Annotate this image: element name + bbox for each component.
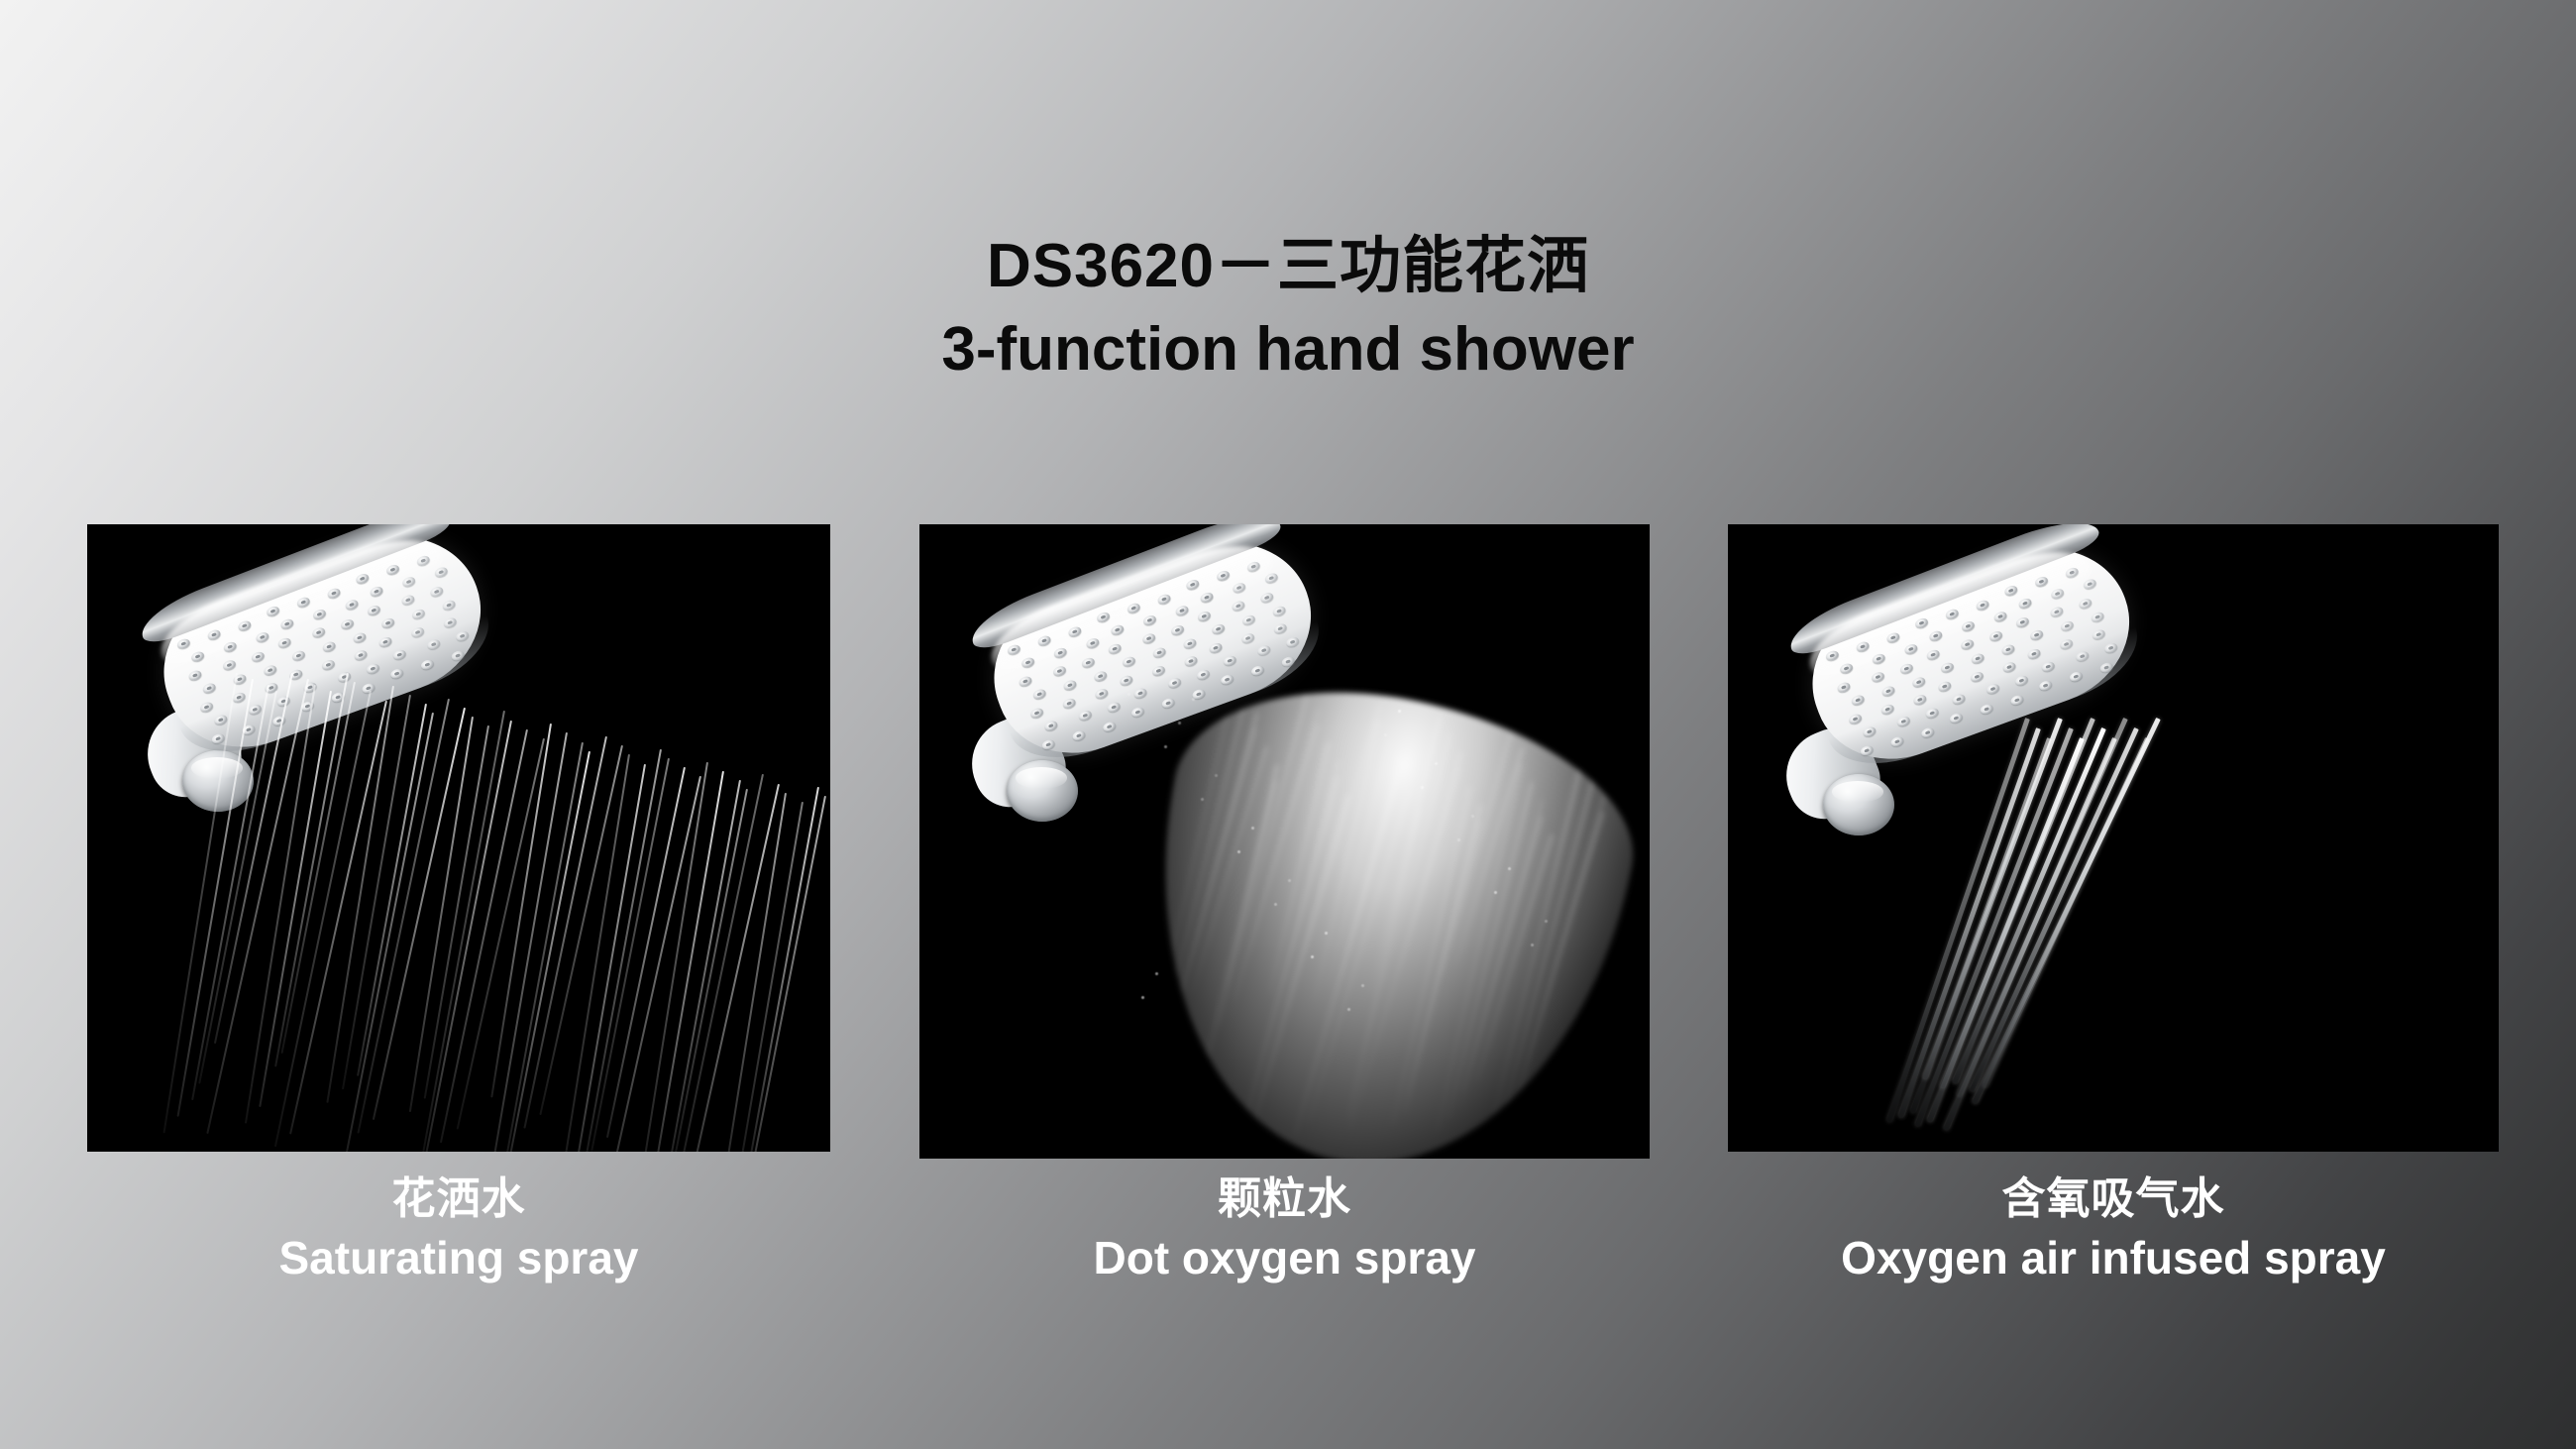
water-stream: [749, 787, 819, 1152]
mist-plume: [1109, 658, 1650, 1159]
nozzle: [352, 631, 367, 644]
water-droplet: [1347, 1008, 1350, 1011]
nozzle: [2075, 650, 2090, 663]
nozzle: [1081, 656, 1096, 669]
water-stream: [423, 725, 488, 1099]
nozzle: [1940, 661, 1955, 674]
nozzle: [1914, 616, 1929, 629]
title-chinese: DS3620－三功能花洒: [0, 236, 2576, 297]
nozzle: [1127, 602, 1141, 614]
water-stream: [667, 780, 741, 1152]
title-english: 3-function hand shower: [0, 319, 2576, 381]
water-stream: [585, 749, 663, 1152]
nozzle-grid: [972, 524, 1333, 776]
nozzle: [1925, 707, 1940, 720]
water-stream: [342, 695, 411, 1090]
nozzle: [1925, 648, 1940, 661]
water-droplet: [1508, 867, 1511, 870]
nozzle: [1899, 662, 1914, 675]
nozzle: [1911, 676, 1926, 689]
water-stream: [487, 732, 568, 1152]
nozzle: [1256, 644, 1271, 657]
water-stream: [408, 717, 473, 1112]
nozzle: [443, 616, 458, 629]
nozzle: [1949, 712, 1964, 724]
hand-shower-render-1: [87, 524, 830, 1152]
nozzle: [1945, 608, 1960, 620]
nozzle: [1062, 679, 1077, 692]
nozzle: [1851, 694, 1866, 707]
water-stream: [555, 754, 629, 1152]
nozzle: [1102, 721, 1117, 733]
nozzle: [1208, 641, 1223, 654]
water-jet: [1915, 727, 2074, 1127]
nozzle: [1992, 611, 2007, 623]
nozzle: [2090, 611, 2104, 623]
nozzle: [1151, 664, 1166, 677]
water-stream: [673, 789, 748, 1152]
nozzle: [2014, 674, 2029, 687]
product-image-panel-2[interactable]: [919, 524, 1650, 1159]
nozzle: [251, 650, 266, 663]
nozzle: [1183, 655, 1198, 668]
nozzle: [2026, 647, 2041, 660]
water-jet: [1940, 718, 2095, 1088]
water-stream: [343, 713, 434, 1152]
water-droplet: [1164, 745, 1167, 748]
nozzle: [1273, 622, 1288, 635]
nozzle: [300, 700, 315, 713]
water-jet: [1943, 737, 2116, 1131]
nozzle: [302, 681, 317, 694]
nozzle: [255, 630, 269, 643]
nozzle-grid: [142, 524, 502, 770]
nozzle: [1018, 675, 1032, 688]
nozzle: [1107, 642, 1122, 655]
nozzle: [1903, 642, 1918, 655]
water-stream: [327, 686, 395, 1103]
nozzle: [366, 662, 380, 675]
water-droplet: [1201, 798, 1204, 801]
nozzle: [1094, 687, 1109, 700]
nozzle: [1071, 729, 1086, 742]
nozzle: [266, 605, 280, 617]
nozzle: [2029, 628, 2044, 641]
nozzle: [340, 617, 355, 630]
nozzle: [1979, 703, 1993, 716]
nozzle: [1191, 688, 1206, 701]
nozzle: [1880, 685, 1895, 698]
nozzle: [296, 596, 311, 609]
nozzle: [1130, 706, 1145, 719]
nozzle: [288, 668, 303, 681]
nozzle: [1156, 593, 1171, 606]
nozzle: [1241, 613, 1256, 626]
nozzle: [1860, 744, 1875, 757]
nozzle: [1029, 707, 1044, 720]
nozzle: [2069, 670, 2084, 683]
nozzle: [2078, 598, 2093, 611]
nozzle: [1246, 560, 1261, 573]
water-droplet: [1531, 944, 1534, 947]
hand-shower-render-3: [1728, 524, 2499, 1152]
nozzle: [291, 649, 306, 662]
nozzle: [1216, 569, 1231, 582]
nozzle: [1078, 709, 1093, 722]
product-image-panel-1[interactable]: [87, 524, 830, 1152]
nozzle: [330, 691, 345, 704]
water-jet: [1927, 737, 2085, 1122]
water-jet: [1970, 727, 2139, 1092]
mode-selector-button: [1823, 774, 1894, 836]
water-stream: [539, 745, 623, 1115]
nozzle: [1872, 652, 1886, 665]
nozzle: [1271, 605, 1286, 617]
water-droplet: [1141, 996, 1144, 999]
nozzle: [1007, 643, 1021, 656]
product-image-panel-3[interactable]: [1728, 524, 2499, 1152]
nozzle: [1093, 670, 1108, 683]
nozzle: [2083, 578, 2097, 591]
nozzle: [2050, 588, 2065, 601]
water-droplet: [1274, 903, 1277, 906]
caption-chinese: 花洒水: [87, 1177, 830, 1221]
water-jet: [1956, 718, 2127, 1096]
nozzle: [1062, 697, 1077, 710]
nozzle: [1032, 688, 1047, 701]
nozzle: [223, 640, 238, 653]
water-stream: [735, 796, 826, 1152]
nozzle: [1951, 693, 1966, 706]
water-droplet: [1288, 879, 1291, 882]
nozzle: [1167, 677, 1182, 690]
water-droplet: [1545, 920, 1548, 923]
caption-chinese: 颗粒水: [919, 1177, 1650, 1221]
water-droplet: [1494, 891, 1497, 894]
nozzle: [211, 732, 226, 745]
nozzle: [1020, 656, 1035, 669]
nozzle: [1264, 572, 1279, 585]
nozzle: [1855, 640, 1870, 653]
nozzle: [2060, 619, 2075, 632]
poster-background: DS3620－三功能花洒 3-function hand shower: [0, 0, 2576, 1449]
nozzle: [2103, 641, 2118, 654]
nozzle: [222, 659, 237, 672]
caption-english: Oxygen air infused spray: [1728, 1235, 2499, 1281]
nozzle: [1182, 637, 1197, 650]
water-stream: [501, 741, 584, 1152]
shower-head-face: [972, 524, 1333, 776]
water-droplet: [1325, 932, 1328, 935]
nozzle: [380, 616, 395, 629]
hand-shower-render-2: [919, 524, 1650, 1159]
nozzle: [1232, 582, 1246, 595]
nozzle: [1960, 638, 1975, 651]
nozzle: [1825, 649, 1840, 662]
nozzle: [361, 682, 376, 695]
shower-handle: [87, 697, 94, 1095]
nozzle: [241, 724, 256, 736]
water-stream: [719, 793, 788, 1152]
nozzle: [1043, 720, 1058, 732]
nozzle: [429, 586, 444, 599]
nozzle: [2065, 566, 2080, 579]
caption-english: Dot oxygen spray: [919, 1235, 1650, 1281]
nozzle: [2034, 575, 2049, 588]
water-stream: [598, 776, 701, 1152]
water-stream: [637, 761, 708, 1152]
nozzle: [176, 637, 191, 650]
water-droplet: [1215, 774, 1218, 777]
nozzle: [455, 629, 470, 642]
nozzle: [206, 628, 221, 641]
nozzle: [1839, 662, 1854, 675]
nozzle: [2038, 679, 2053, 692]
nozzle: [1250, 664, 1265, 677]
nozzle: [1052, 665, 1067, 678]
nozzle: [2017, 597, 2032, 610]
nozzle: [1920, 726, 1935, 739]
water-stream: [734, 802, 804, 1152]
nozzle: [2009, 694, 2024, 707]
nozzle: [1220, 673, 1234, 686]
nozzle: [1937, 680, 1952, 693]
water-stream: [507, 751, 590, 1152]
nozzle: [232, 691, 247, 704]
nozzle: [377, 635, 392, 648]
nozzle: [1231, 600, 1245, 613]
nozzle: [1928, 629, 1943, 642]
nozzle: [1912, 693, 1927, 706]
nozzle: [2000, 643, 2015, 656]
nozzle: [321, 658, 336, 671]
nozzle: [2098, 661, 2113, 674]
nozzle: [385, 563, 400, 576]
water-jet: [1953, 727, 2106, 1083]
nozzle: [1151, 646, 1166, 659]
nozzle: [1970, 652, 1985, 665]
nozzle: [232, 673, 247, 686]
nozzle: [199, 701, 214, 714]
nozzle: [2049, 606, 2064, 618]
caption-panel-2: 颗粒水 Dot oxygen spray: [919, 1177, 1650, 1281]
nozzle: [401, 576, 416, 589]
water-stream: [357, 704, 427, 1076]
nozzle: [420, 658, 435, 671]
nozzle: [1880, 703, 1895, 716]
water-droplet: [1384, 733, 1387, 736]
nozzle: [321, 640, 336, 653]
nozzle: [237, 619, 252, 632]
nozzle: [1280, 655, 1295, 668]
nozzle: [389, 667, 404, 680]
water-stream: [245, 685, 316, 1124]
nozzle: [2001, 661, 2016, 674]
water-droplet: [1155, 972, 1158, 975]
shower-head-face: [142, 524, 502, 770]
product-panel-row: [0, 524, 2576, 1164]
water-droplet: [1398, 710, 1401, 713]
nozzle: [1122, 655, 1136, 668]
water-jet: [1886, 718, 2030, 1122]
nozzle: [1223, 654, 1237, 667]
water-stream: [280, 682, 356, 1054]
nozzle: [1132, 687, 1147, 700]
nozzle: [312, 608, 327, 620]
water-stream: [358, 698, 451, 1133]
water-jet: [1898, 727, 2041, 1118]
nozzle: [1871, 671, 1885, 684]
water-droplet: [1471, 815, 1474, 818]
nozzle: [1211, 622, 1226, 635]
page-title: DS3620－三功能花洒 3-function hand shower: [0, 236, 2576, 381]
caption-panel-1: 花洒水 Saturating spray: [87, 1177, 830, 1281]
nozzle: [1285, 635, 1300, 648]
nozzle: [1053, 646, 1068, 659]
water-stream: [419, 711, 505, 1152]
water-stream: [260, 691, 333, 1107]
water-stream: [682, 783, 780, 1152]
nozzle: [1041, 738, 1056, 751]
nozzle: [1199, 591, 1214, 604]
nozzle: [279, 617, 294, 630]
water-droplet: [1178, 722, 1181, 724]
nozzle: [1896, 715, 1911, 727]
nozzle: [355, 572, 370, 585]
water-jet: [1972, 718, 2160, 1104]
nozzle: [2041, 660, 2056, 673]
nozzle: [1036, 634, 1051, 647]
water-droplet: [1251, 827, 1254, 830]
nozzle: [1096, 611, 1111, 623]
nozzle: [392, 648, 407, 661]
water-stream: [590, 758, 670, 1152]
nozzle: [1988, 629, 2003, 642]
nozzle: [264, 681, 278, 694]
nozzle: [1174, 605, 1189, 617]
nozzle: [344, 599, 359, 612]
water-droplet: [1421, 786, 1424, 789]
water-stream: [289, 700, 387, 1134]
nozzle: [441, 599, 456, 612]
nozzle: [1110, 623, 1125, 636]
nozzle: [1142, 613, 1157, 626]
nozzle: [1141, 632, 1156, 645]
nozzle: [1986, 683, 2000, 696]
water-jet: [1983, 737, 2150, 1088]
nozzle: [1862, 725, 1877, 738]
nozzle: [369, 585, 383, 598]
water-stream: [440, 729, 528, 1143]
caption-english: Saturating spray: [87, 1235, 830, 1281]
water-droplet: [1311, 955, 1314, 958]
shower-handle: [1728, 721, 1729, 1119]
water-stream: [652, 771, 725, 1152]
nozzle: [1848, 713, 1863, 725]
nozzle: [263, 664, 277, 677]
nozzle: [416, 554, 431, 567]
water-stream: [606, 767, 686, 1138]
water-droplet: [1237, 850, 1240, 853]
water-droplet: [1361, 984, 1364, 987]
nozzle: [1889, 735, 1904, 748]
nozzle: [1170, 623, 1185, 636]
nozzle: [1196, 668, 1211, 681]
nozzle: [187, 669, 202, 682]
nozzle: [2059, 638, 2074, 651]
mist-streaks: [1109, 658, 1650, 1159]
water-droplet: [1457, 838, 1460, 841]
nozzle: [450, 649, 465, 662]
water-droplet: [1435, 762, 1438, 765]
nozzle: [426, 638, 441, 651]
shower-head-face: [1790, 524, 2151, 782]
water-stream: [373, 708, 466, 1120]
nozzle: [1119, 674, 1133, 687]
water-stream: [456, 738, 544, 1130]
nozzle: [1970, 670, 1985, 683]
nozzle: [411, 608, 426, 620]
nozzle: [434, 566, 449, 579]
nozzle: [213, 714, 228, 726]
nozzle: [248, 703, 263, 716]
nozzle: [2015, 615, 2030, 628]
nozzle: [2003, 584, 2018, 597]
nozzle: [1067, 625, 1082, 638]
nozzle: [1085, 636, 1100, 649]
nozzle: [1885, 631, 1900, 644]
water-stream: [667, 774, 764, 1152]
nozzle: [400, 594, 415, 607]
nozzle: [1197, 610, 1212, 622]
nozzle: [1107, 701, 1122, 714]
water-stream: [570, 763, 646, 1152]
nozzle: [1259, 592, 1274, 605]
nozzle: [2092, 628, 2106, 641]
nozzle: [326, 587, 341, 600]
water-stream: [274, 691, 372, 1147]
water-jet: [1910, 737, 2052, 1113]
nozzle: [1240, 632, 1255, 645]
nozzle: [410, 626, 425, 639]
nozzle: [367, 604, 381, 616]
water-stream: [523, 736, 607, 1129]
nozzle: [1975, 599, 1989, 612]
nozzle: [276, 695, 291, 708]
caption-panel-3: 含氧吸气水 Oxygen air infused spray: [1728, 1177, 2499, 1281]
nozzle: [276, 636, 291, 649]
nozzle: [190, 650, 205, 663]
water-stream: [490, 724, 552, 1098]
nozzle: [1836, 681, 1851, 694]
nozzle: [337, 671, 352, 684]
caption-row: 花洒水 Saturating spray 颗粒水 Dot oxygen spra…: [0, 1177, 2576, 1336]
nozzle: [271, 715, 286, 727]
nozzle: [202, 682, 217, 695]
water-jet: [1922, 718, 2063, 1079]
nozzle: [353, 649, 368, 662]
nozzle: [1185, 578, 1200, 591]
nozzle: [1961, 619, 1976, 632]
nozzle: [1160, 697, 1175, 710]
caption-chinese: 含氧吸气水: [1728, 1177, 2499, 1221]
water-stream: [425, 720, 512, 1152]
nozzle: [311, 626, 326, 639]
